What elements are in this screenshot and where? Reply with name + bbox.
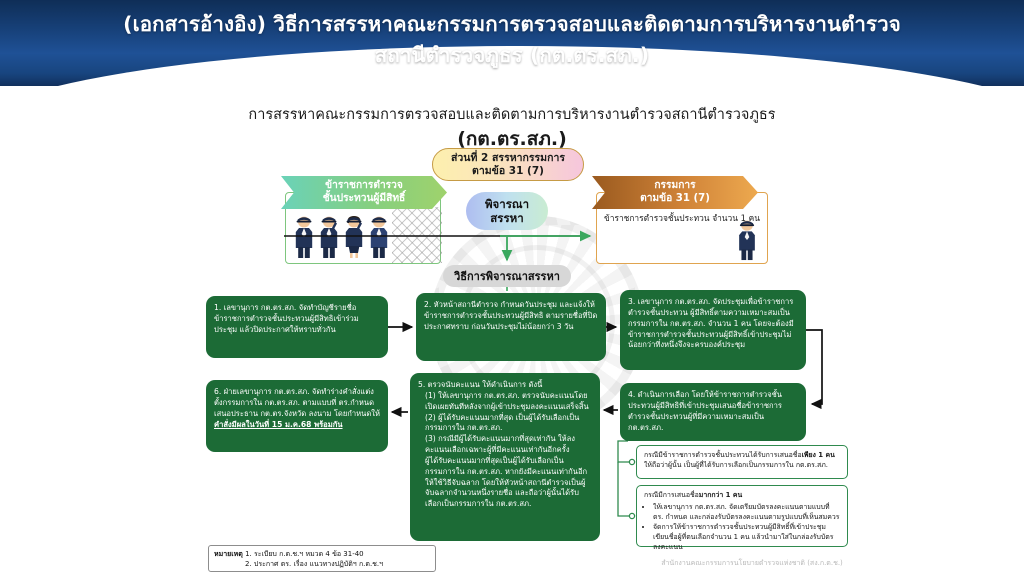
police-officer-saluting-icon: [319, 213, 339, 259]
police-officer-icon: [294, 213, 314, 259]
police-officer-icon: [369, 213, 389, 259]
process-step-5-item-1: (1) ให้เลขานุการ กต.ตร.สภ. ตรวจนับคะแนนโ…: [418, 391, 592, 413]
note-multi-bullet-1: ให้เลขานุการ กต.ตร.สภ. จัดเตรียมบัตรลงคะ…: [653, 503, 840, 523]
eligible-officers-header-line1: ข้าราชการตำรวจ: [323, 180, 406, 192]
footer-credit: สำนักงานคณะกรรมการนโยบายตำรวจแห่งชาติ (ส…: [612, 558, 892, 569]
banner-title-line1: (เอกสารอ้างอิง) วิธีการสรรหาคณะกรรมการตร…: [0, 9, 1024, 40]
note-single-nomination: กรณีมีข้าราชการตำรวจชั้นประทวนได้รับการเ…: [636, 445, 848, 479]
process-step-5: 5. ตรวจนับคะแนน ให้ดำเนินการ ดังนี้ (1) …: [410, 373, 600, 541]
process-step-3: 3. เลขานุการ กต.ตร.สภ. จัดประชุมเพื่อข้า…: [620, 290, 806, 370]
process-step-5-item-3: (3) กรณีมีผู้ได้รับคะแนนมากที่สุดเท่ากัน…: [418, 434, 592, 456]
note-multi-emphasis: มากกว่า 1 คน: [699, 491, 742, 499]
banner-title-line2: สถานีตำรวจภูธร (กต.ตร.สภ.): [0, 40, 1024, 71]
eligible-officers-header: ข้าราชการตำรวจ ชั้นประทวนผู้มีสิทธิ์: [281, 176, 447, 209]
process-step-5-item-2: (2) ผู้ได้รับคะแนนมากที่สุด เป็นผู้ได้รั…: [418, 413, 592, 435]
method-label: วิธีการพิจารณาสรรหา: [443, 265, 571, 287]
page-header-banner: (เอกสารอ้างอิง) วิธีการสรรหาคณะกรรมการตร…: [0, 0, 1024, 86]
section-badge-line1: ส่วนที่ 2 สรรหากรรมการ: [451, 152, 565, 165]
process-step-6-deadline: คำสั่งมีผลในวันที่ 15 ม.ค.68 พร้อมกัน: [214, 420, 380, 431]
net-pattern-decoration: [392, 207, 442, 263]
banner-title: (เอกสารอ้างอิง) วิธีการสรรหาคณะกรรมการตร…: [0, 0, 1024, 71]
note-multiple-nomination: กรณีมีการเสนอชื่อมากกว่า 1 คน ให้เลขานุก…: [636, 485, 848, 547]
remark-box: หมายเหตุ 1. ระเบียบ ก.ต.ช.ฯ หมวด 4 ข้อ 3…: [208, 545, 436, 572]
remark-label: หมายเหตุ: [214, 550, 243, 558]
committee-result-header-line2: ตามข้อ 31 (7): [640, 193, 710, 205]
committee-result-header-line1: กรรมการ: [640, 180, 710, 192]
process-step-4-text: 4. ดำเนินการเลือก โดยให้ข้าราชการตำรวจชั…: [628, 390, 798, 433]
note-multi-bullet-2: จัดการให้ข้าราชการตำรวจชั้นประทวนผู้มีสิ…: [653, 523, 840, 552]
section-badge: ส่วนที่ 2 สรรหากรรมการ ตามข้อ 31 (7): [432, 148, 584, 181]
process-step-6: 6. ฝ่ายเลขานุการ กต.ตร.สภ. จัดทำร่างคำสั…: [206, 380, 388, 452]
diagram-title: การสรรหาคณะกรรมการตรวจสอบและติดตามการบริ…: [0, 106, 1024, 152]
note-single-emphasis: เพียง 1 คน: [802, 451, 835, 459]
remark-line-2: 2. ประกาศ ตร. เรื่อง แนวทางปฏิบัติฯ ก.ต.…: [214, 559, 430, 569]
note-multi-lead: กรณีมีการเสนอชื่อ: [644, 491, 699, 499]
process-step-6-text: 6. ฝ่ายเลขานุการ กต.ตร.สภ. จัดทำร่างคำสั…: [214, 387, 380, 420]
process-step-5-heading: 5. ตรวจนับคะแนน ให้ดำเนินการ ดังนี้: [418, 380, 592, 391]
process-step-3-text: 3. เลขานุการ กต.ตร.สภ. จัดประชุมเพื่อข้า…: [628, 297, 798, 351]
diagram-title-line1: การสรรหาคณะกรรมการตรวจสอบและติดตามการบริ…: [248, 107, 775, 123]
consideration-label-line2: สรรหา: [485, 211, 529, 225]
committee-result-header: กรรมการ ตามข้อ 31 (7): [592, 176, 758, 209]
process-step-1-text: 1. เลขานุการ กต.ตร.สภ. จัดทำบัญชีรายชื่อ…: [214, 303, 380, 336]
officer-figures: [294, 213, 389, 259]
process-step-2-text: 2. หัวหน้าสถานีตำรวจ กำหนดวันประชุม และแ…: [424, 300, 598, 333]
note-single-rest: ให้ถือว่าผู้นั้น เป็นผู้ที่ได้รับการเลือ…: [644, 461, 828, 469]
process-step-5-tail: ผู้ได้รับคะแนนมากที่สุดเป็นผู้ได้รับเลือ…: [418, 456, 592, 510]
consideration-label: พิจารณา สรรหา: [466, 192, 548, 230]
note-multi-bullet-list: ให้เลขานุการ กต.ตร.สภ. จัดเตรียมบัตรลงคะ…: [644, 503, 840, 553]
female-police-officer-icon: [344, 213, 364, 259]
process-step-1: 1. เลขานุการ กต.ตร.สภ. จัดทำบัญชีรายชื่อ…: [206, 296, 388, 358]
remark-line-1: 1. ระเบียบ ก.ต.ช.ฯ หมวด 4 ข้อ 31-40: [245, 550, 364, 558]
note-single-lead: กรณีมีข้าราชการตำรวจชั้นประทวนได้รับการเ…: [644, 451, 802, 459]
eligible-officers-header-line2: ชั้นประทวนผู้มีสิทธิ์: [323, 193, 406, 205]
section-badge-line2: ตามข้อ 31 (7): [451, 165, 565, 178]
consideration-label-line1: พิจารณา: [485, 197, 529, 211]
police-officer-icon: [736, 217, 758, 261]
process-step-2: 2. หัวหน้าสถานีตำรวจ กำหนดวันประชุม และแ…: [416, 293, 606, 361]
process-step-4: 4. ดำเนินการเลือก โดยให้ข้าราชการตำรวจชั…: [620, 383, 806, 441]
